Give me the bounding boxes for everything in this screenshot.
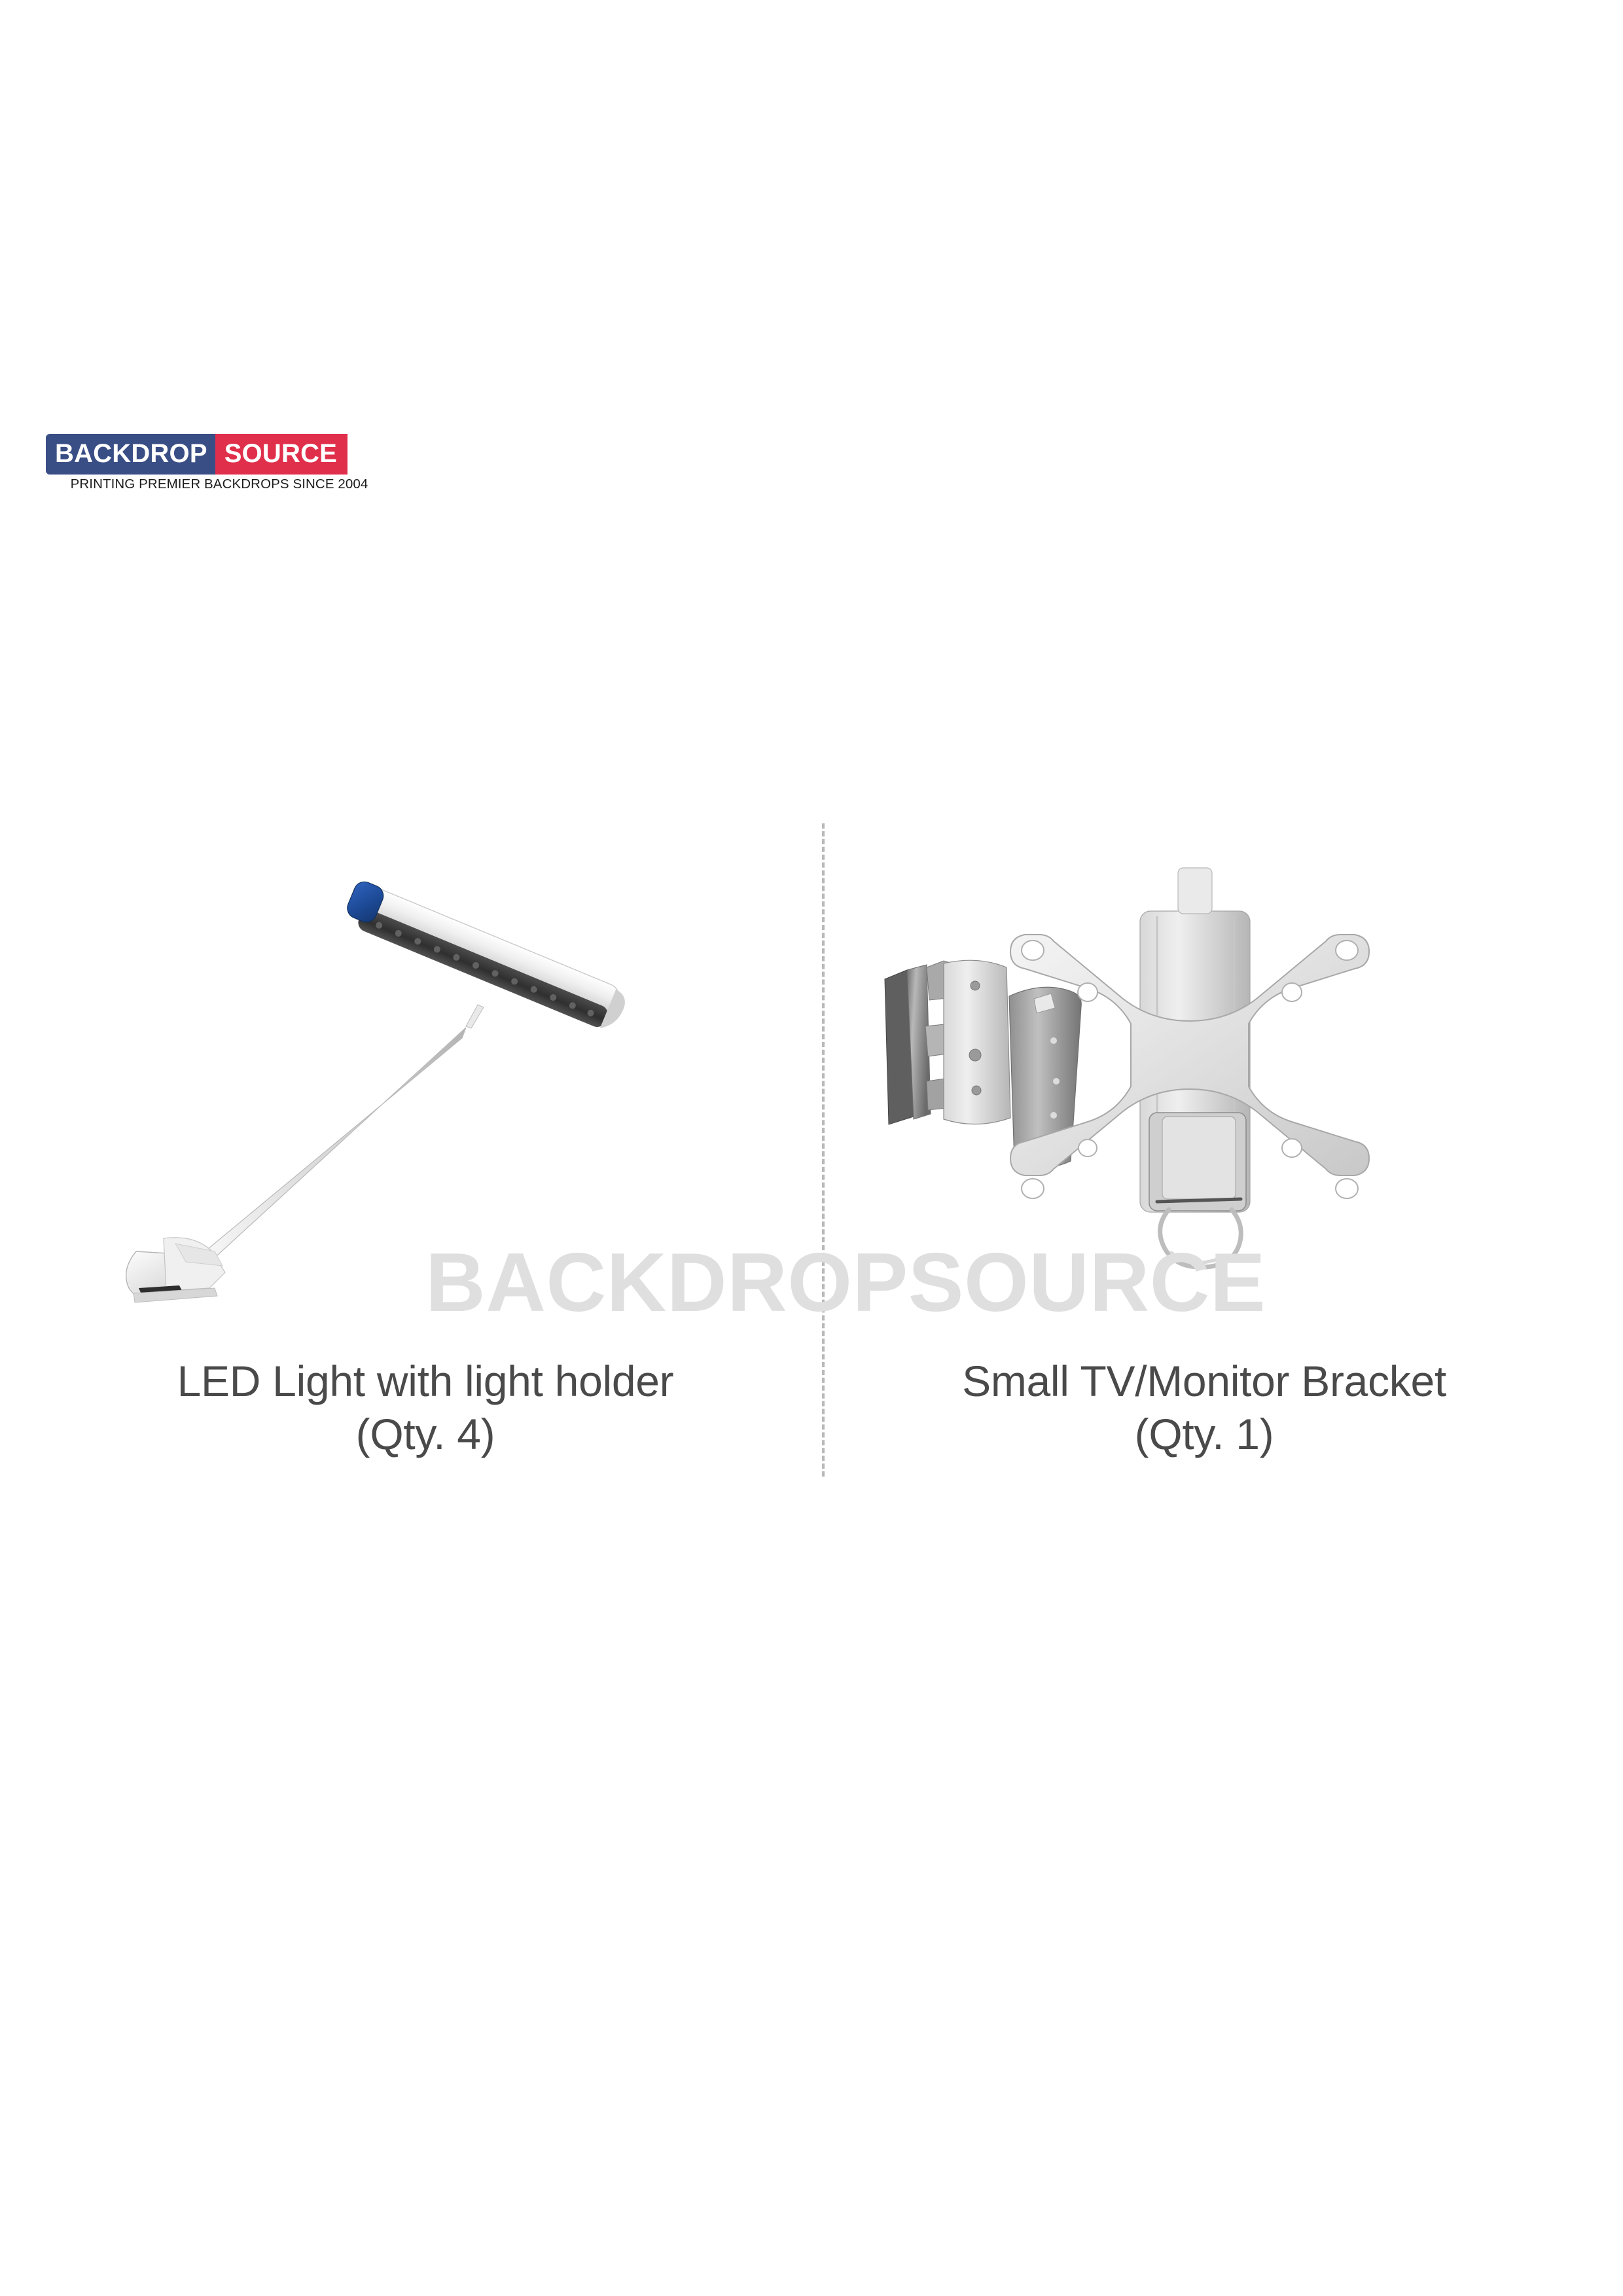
logo-tagline: PRINTING PREMIER BACKDROPS SINCE 2004: [46, 476, 393, 492]
led-light-quantity: (Qty. 4): [65, 1408, 785, 1461]
led-light-name: LED Light with light holder: [177, 1357, 674, 1405]
tv-bracket-quantity: (Qty. 1): [844, 1408, 1564, 1461]
brand-logo: BACKDROP SOURCE PRINTING PREMIER BACKDRO…: [46, 434, 393, 492]
logo-badge: BACKDROP SOURCE: [46, 434, 393, 475]
tv-bracket-caption: Small TV/Monitor Bracket (Qty. 1): [844, 1355, 1564, 1460]
logo-word-backdrop: BACKDROP: [46, 434, 215, 475]
logo-word-source: SOURCE: [215, 434, 348, 475]
section-divider: [822, 823, 825, 1477]
tv-bracket-name: Small TV/Monitor Bracket: [962, 1357, 1446, 1405]
led-light-caption: LED Light with light holder (Qty. 4): [65, 1355, 785, 1460]
watermark-text: BACKDROPSOURCE: [425, 1241, 1266, 1324]
